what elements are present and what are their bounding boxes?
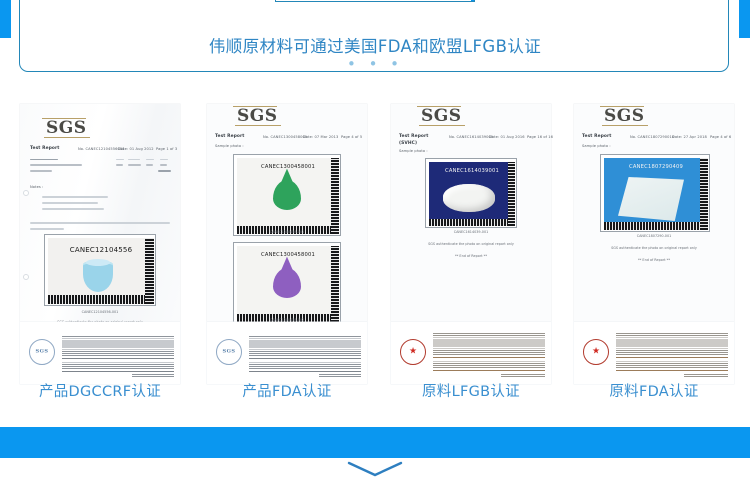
section-subtitle: 伟顺原材料可通过美国FDA和欧盟LFGB认证 (0, 33, 750, 57)
table-row-line (128, 164, 141, 166)
photo-caption: CANEC12104556-001 (20, 310, 180, 314)
sgs-logo: SGS (421, 108, 462, 125)
seal-text: SGS (30, 350, 54, 355)
sample-photo-frame: CANEC12104556 (44, 234, 156, 306)
hole-punch-icon (23, 274, 29, 280)
report-subtitle: (SVHC) (399, 142, 417, 146)
end-of-report-note: ** End of Report ** (391, 254, 551, 258)
sgs-logo-rule (602, 125, 648, 126)
sample-photo-frame: CANEC1300458001 CANEC1300458-001 (233, 154, 341, 236)
authentication-note: SGS authenticate the photo on original r… (391, 242, 551, 246)
sample-photo: CANEC1300458001 (237, 246, 339, 322)
letterhead-rule (433, 370, 545, 371)
result-value-line (158, 170, 171, 172)
sample-photo: CANEC1300458001 (237, 158, 339, 234)
sgs-logo: SGS (46, 120, 87, 137)
certificate-caption: 原料LFGB认证 (383, 380, 559, 401)
report-label: Test Report (30, 147, 60, 151)
letterhead-rule (62, 358, 174, 359)
sgs-logo-rule (42, 118, 86, 119)
ruler-vertical (331, 246, 339, 322)
sgs-logo: SGS (237, 108, 278, 125)
certificate-card-lfgb-material[interactable]: SGS Test Report (SVHC) No. CANEC16140390… (383, 104, 559, 404)
sample-object-green-drop (273, 180, 301, 210)
sample-object-purple-drop (273, 268, 301, 298)
table-rule (160, 159, 168, 160)
certificate-caption: 原料FDA认证 (566, 380, 742, 401)
sample-object-white-sheet (618, 177, 684, 221)
note-line (42, 196, 108, 198)
letterhead-text-block (616, 333, 728, 355)
sample-code: CANEC12104556 (48, 246, 154, 254)
seal-text: SGS (217, 350, 241, 355)
letterhead-contact-block (616, 360, 728, 368)
note-line (42, 202, 98, 204)
star-seal-icon: ★ (400, 339, 426, 365)
letterhead-rule (433, 357, 545, 358)
report-label: Test Report (215, 135, 245, 139)
letterhead-text-block (249, 335, 361, 356)
report-page: Page 16 of 16 (527, 136, 553, 140)
note-line (42, 208, 104, 210)
remark-line (30, 222, 170, 224)
ruler-vertical (145, 238, 154, 304)
ruler-vertical (331, 158, 339, 234)
photo-caption: CANEC1614039-001 (391, 230, 551, 234)
seal-star-glyph: ★ (401, 348, 425, 357)
letterhead-contact-block (62, 361, 174, 369)
letterhead-contact-block (433, 360, 545, 368)
letterhead-text-block (62, 335, 174, 356)
certificate-caption: 产品FDA认证 (199, 380, 375, 401)
sample-code: CANEC1300458001 (237, 164, 339, 170)
sgs-logo-rule (235, 125, 281, 126)
certificate-caption: 产品DGCCRF认证 (12, 380, 188, 401)
sample-object-bowl (83, 262, 113, 292)
sgs-logo-rule (419, 125, 465, 126)
sample-photo-frame: CANEC1807290409 (600, 154, 710, 232)
section-title-chip: 检测报告 (275, 0, 475, 2)
table-rule (128, 159, 140, 160)
sample-label: Sample photo : (582, 145, 611, 149)
report-label: Test Report (399, 135, 429, 139)
sample-photo: CANEC1614039001 (429, 162, 515, 226)
letterhead-text-block (433, 333, 545, 355)
table-row-line (160, 164, 167, 166)
report-number: No. CANEC1300458001 (263, 136, 307, 140)
photo-caption: CANEC1807290-001 (574, 234, 734, 238)
report-label: Test Report (582, 135, 612, 139)
notes-label: Notes : (30, 186, 43, 190)
letterhead-rule (62, 371, 174, 372)
ruler-vertical (508, 162, 515, 226)
certificate-card-fda-product[interactable]: SGS Test Report No. CANEC1300458001 Date… (199, 104, 375, 404)
end-of-report-note: ** End of Report ** (574, 258, 734, 262)
sgs-seal-icon: SGS (216, 339, 242, 365)
sgs-logo-rule (417, 106, 461, 107)
sample-code: CANEC1614039001 (429, 168, 515, 174)
authentication-note: SGS authenticate the photo on original r… (574, 246, 734, 250)
report-date: Date: 27 Apr 2018 (672, 136, 707, 140)
letterhead-rule (616, 357, 728, 358)
certificate-grid: SGS Test Report No. CANEC12104556001 Dat… (0, 104, 750, 404)
decorative-dots: • • • (0, 57, 750, 72)
sgs-logo-rule (44, 137, 90, 138)
footer-accent-bar (0, 427, 750, 458)
star-seal-icon: ★ (583, 339, 609, 365)
certificate-letterhead: SGS (20, 322, 180, 384)
section-banner: 检测报告 伟顺原材料可通过美国FDA和欧盟LFGB认证 • • • (0, 0, 750, 78)
certificate-letterhead: SGS (207, 322, 367, 384)
report-number: No. CANEC1807290010 (630, 136, 674, 140)
report-date: Date: 01 Aug 2016 (489, 136, 525, 140)
hole-punch-icon (23, 190, 29, 196)
letterhead-footnote (319, 374, 361, 377)
ruler-horizontal (48, 295, 154, 304)
sample-label: Sample photo : (399, 150, 428, 154)
sample-code: CANEC1807290409 (604, 164, 708, 170)
sample-photo-frame: CANEC1614039001 (425, 158, 517, 228)
letterhead-footnote (132, 374, 174, 377)
report-number: No. CANEC1614039001 (449, 136, 493, 140)
certificate-letterhead: ★ (574, 322, 734, 384)
letterhead-rule (249, 358, 361, 359)
table-rule (30, 159, 58, 160)
sample-label-line (30, 228, 64, 230)
ruler-vertical (700, 158, 708, 230)
letterhead-contact-block (249, 361, 361, 369)
sample-photo: CANEC12104556 (48, 238, 154, 304)
table-row-line (146, 164, 153, 166)
table-row-line (30, 164, 82, 166)
letterhead-footnote (684, 374, 728, 377)
report-date: Date: 01 Aug 2012 (118, 148, 154, 152)
ruler-horizontal (429, 219, 515, 226)
certificate-card-fda-material[interactable]: SGS Test Report No. CANEC1807290010 Date… (566, 104, 742, 404)
sample-code: CANEC1300458001 (237, 252, 339, 258)
sgs-seal-icon: SGS (29, 339, 55, 365)
report-page: Page 4 of 5 (341, 136, 362, 140)
ruler-horizontal (604, 222, 708, 230)
scroll-down-chevron-icon[interactable] (343, 459, 407, 479)
certificate-letterhead: ★ (391, 322, 551, 384)
certification-section: 检测报告 伟顺原材料可通过美国FDA和欧盟LFGB认证 • • • SGS Te… (0, 0, 750, 479)
letterhead-footnote (501, 374, 545, 377)
sgs-logo-rule (600, 106, 644, 107)
sample-label: Sample photo : (215, 145, 244, 149)
certificate-card-dgccrf[interactable]: SGS Test Report No. CANEC12104556001 Dat… (12, 104, 188, 404)
report-page: Page 1 of 3 (156, 148, 177, 152)
table-row-line (116, 164, 123, 166)
sample-photo-frame: CANEC1300458001 CANEC1300458-002 (233, 242, 341, 324)
report-page: Page 4 of 6 (710, 136, 731, 140)
table-rule (146, 159, 154, 160)
seal-star-glyph: ★ (584, 348, 608, 357)
result-row-line (30, 170, 52, 172)
report-date: Date: 07 Mar 2013 (303, 136, 338, 140)
sgs-logo: SGS (604, 108, 645, 125)
sample-photo: CANEC1807290409 (604, 158, 708, 230)
sample-object-white-soap (443, 184, 495, 212)
photo-caption: CANEC1300458-001 (234, 230, 340, 234)
letterhead-rule (616, 370, 728, 371)
sgs-logo-rule (233, 106, 277, 107)
letterhead-rule (249, 371, 361, 372)
table-rule (116, 159, 124, 160)
